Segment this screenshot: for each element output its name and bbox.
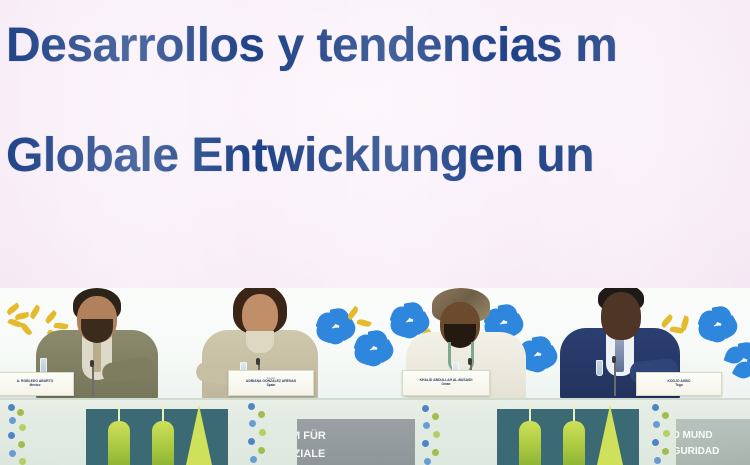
speaker-2-collar	[246, 331, 274, 353]
panel-table-front: M FÜR OZIALE	[0, 398, 750, 465]
hibiscus-flower-icon	[420, 400, 446, 465]
microphone-icon	[92, 366, 94, 396]
microphone-icon	[90, 360, 94, 367]
microphone-icon	[256, 358, 260, 365]
twin-towers-icon	[497, 409, 639, 465]
water-glass-icon	[596, 360, 603, 376]
nameplate-2-country: Spain	[267, 384, 276, 388]
banner-spanish-line-2: EGURIDAD	[676, 445, 719, 458]
banner-german-line-2: OZIALE	[297, 448, 325, 462]
slide-line-spanish: Desarrollos y tendencias m	[6, 22, 617, 70]
banner-spanish-line-1: O MUND	[676, 429, 713, 442]
nameplate-speaker-2: Sra./Ms. ADRIANA GONZALEZ ARENAS Spain	[228, 370, 314, 396]
floral-backdrop: A. ROBLEDO ABURTO Mexico Sra./Ms. ADRIAN…	[0, 288, 750, 400]
nameplate-speaker-3: KHALID ABDULLAH AL-BUSAIDI Oman	[402, 370, 490, 396]
nameplate-4-country: Togo	[675, 384, 683, 388]
nameplate-speaker-1: A. ROBLEDO ABURTO Mexico	[0, 372, 74, 396]
speaker-4-head	[601, 292, 641, 340]
projection-screen: Desarrollos y tendencias m Globale Entwi…	[0, 0, 750, 300]
twin-towers-icon	[86, 409, 228, 465]
speaker-2-head	[242, 294, 278, 336]
hibiscus-flower-icon	[246, 400, 272, 465]
slide-line-german: Globale Entwicklungen un	[6, 132, 594, 180]
hibiscus-flower-icon	[6, 400, 32, 465]
banner-german-line-1: M FÜR	[297, 430, 326, 444]
banner-panel-spanish: O MUND EGURIDAD	[676, 419, 750, 465]
speaker-1-tie	[93, 338, 101, 372]
banner-panel-german: M FÜR OZIALE	[297, 419, 415, 465]
nameplate-1-country: Mexico	[30, 384, 41, 388]
nameplate-speaker-4: KODJO AGBO Togo	[636, 372, 722, 396]
microphone-icon	[614, 362, 616, 396]
speaker-4-tie	[615, 338, 624, 372]
conference-panel-photo: Desarrollos y tendencias m Globale Entwi…	[0, 0, 750, 465]
hibiscus-flower-icon	[650, 400, 676, 465]
nameplate-3-country: Oman	[441, 383, 450, 387]
microphone-icon	[468, 358, 472, 365]
microphone-icon	[612, 356, 616, 363]
